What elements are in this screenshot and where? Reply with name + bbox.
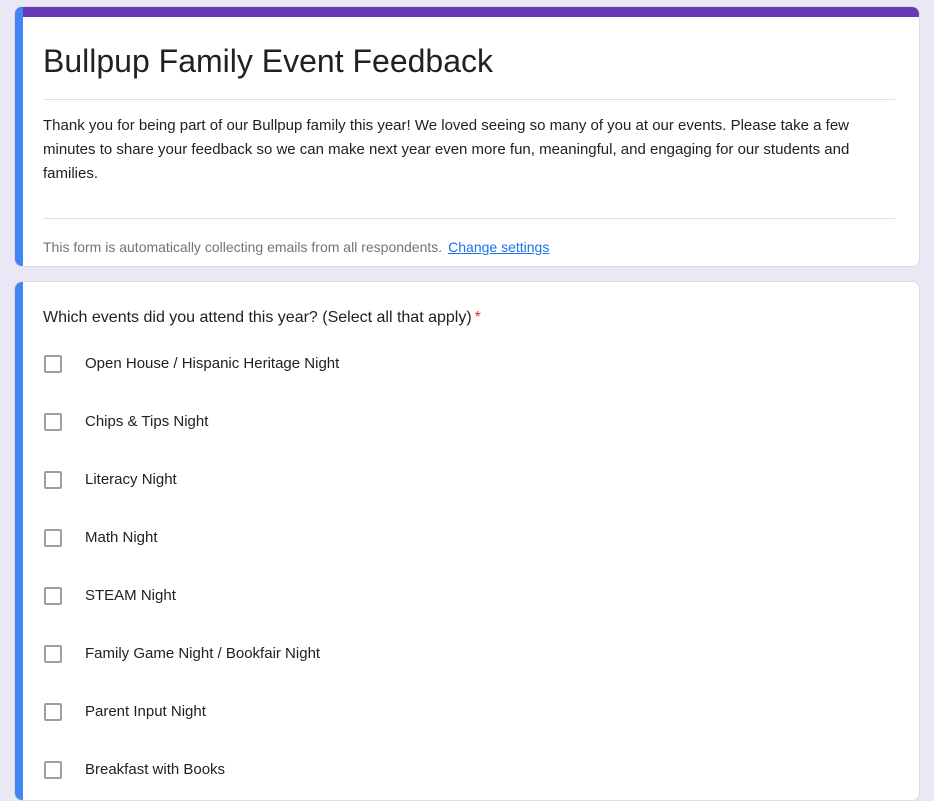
question-title-text: Which events did you attend this year? (… <box>43 309 472 326</box>
checkbox-icon[interactable] <box>44 529 62 547</box>
checkbox-option-label: Literacy Night <box>85 468 177 492</box>
checkbox-option-literacy-night[interactable]: Literacy Night <box>43 468 895 492</box>
checkbox-option-label: Open House / Hispanic Heritage Night <box>85 352 339 376</box>
checkbox-option-steam-night[interactable]: STEAM Night <box>43 584 895 608</box>
question-body: Which events did you attend this year? (… <box>15 282 919 782</box>
checkbox-icon[interactable] <box>44 587 62 605</box>
checkbox-option-chips-tips[interactable]: Chips & Tips Night <box>43 410 895 434</box>
checkbox-icon[interactable] <box>44 761 62 779</box>
google-form-page: Bullpup Family Event Feedback Thank you … <box>0 6 934 801</box>
checkbox-option-label: Chips & Tips Night <box>85 410 208 434</box>
checkbox-icon[interactable] <box>44 355 62 373</box>
form-header-card: Bullpup Family Event Feedback Thank you … <box>14 6 920 267</box>
checkbox-icon[interactable] <box>44 703 62 721</box>
question-card-events-attended: Which events did you attend this year? (… <box>14 281 920 801</box>
page-title: Bullpup Family Event Feedback <box>43 37 895 81</box>
form-theme-bar <box>15 7 919 17</box>
checkbox-option-label: Math Night <box>85 526 158 550</box>
form-description: Thank you for being part of our Bullpup … <box>43 100 895 200</box>
card-accent-stripe <box>15 282 23 800</box>
checkbox-option-label: Parent Input Night <box>85 700 206 724</box>
required-asterisk: * <box>475 309 481 326</box>
email-notice-text: This form is automatically collecting em… <box>43 239 442 255</box>
question-title: Which events did you attend this year? (… <box>43 306 895 330</box>
checkbox-option-breakfast-with-books[interactable]: Breakfast with Books <box>43 758 895 782</box>
card-accent-stripe <box>15 7 23 266</box>
checkbox-option-label: STEAM Night <box>85 584 176 608</box>
checkbox-option-list: Open House / Hispanic Heritage Night Chi… <box>43 352 895 782</box>
checkbox-option-math-night[interactable]: Math Night <box>43 526 895 550</box>
checkbox-option-label: Breakfast with Books <box>85 758 225 782</box>
checkbox-option-open-house[interactable]: Open House / Hispanic Heritage Night <box>43 352 895 376</box>
email-collection-notice: This form is automatically collecting em… <box>43 219 895 257</box>
change-settings-link[interactable]: Change settings <box>448 239 549 255</box>
checkbox-option-family-game-night[interactable]: Family Game Night / Bookfair Night <box>43 642 895 666</box>
checkbox-icon[interactable] <box>44 645 62 663</box>
checkbox-option-parent-input-night[interactable]: Parent Input Night <box>43 700 895 724</box>
checkbox-icon[interactable] <box>44 413 62 431</box>
form-header-body: Bullpup Family Event Feedback Thank you … <box>15 17 919 257</box>
checkbox-option-label: Family Game Night / Bookfair Night <box>85 642 320 666</box>
checkbox-icon[interactable] <box>44 471 62 489</box>
